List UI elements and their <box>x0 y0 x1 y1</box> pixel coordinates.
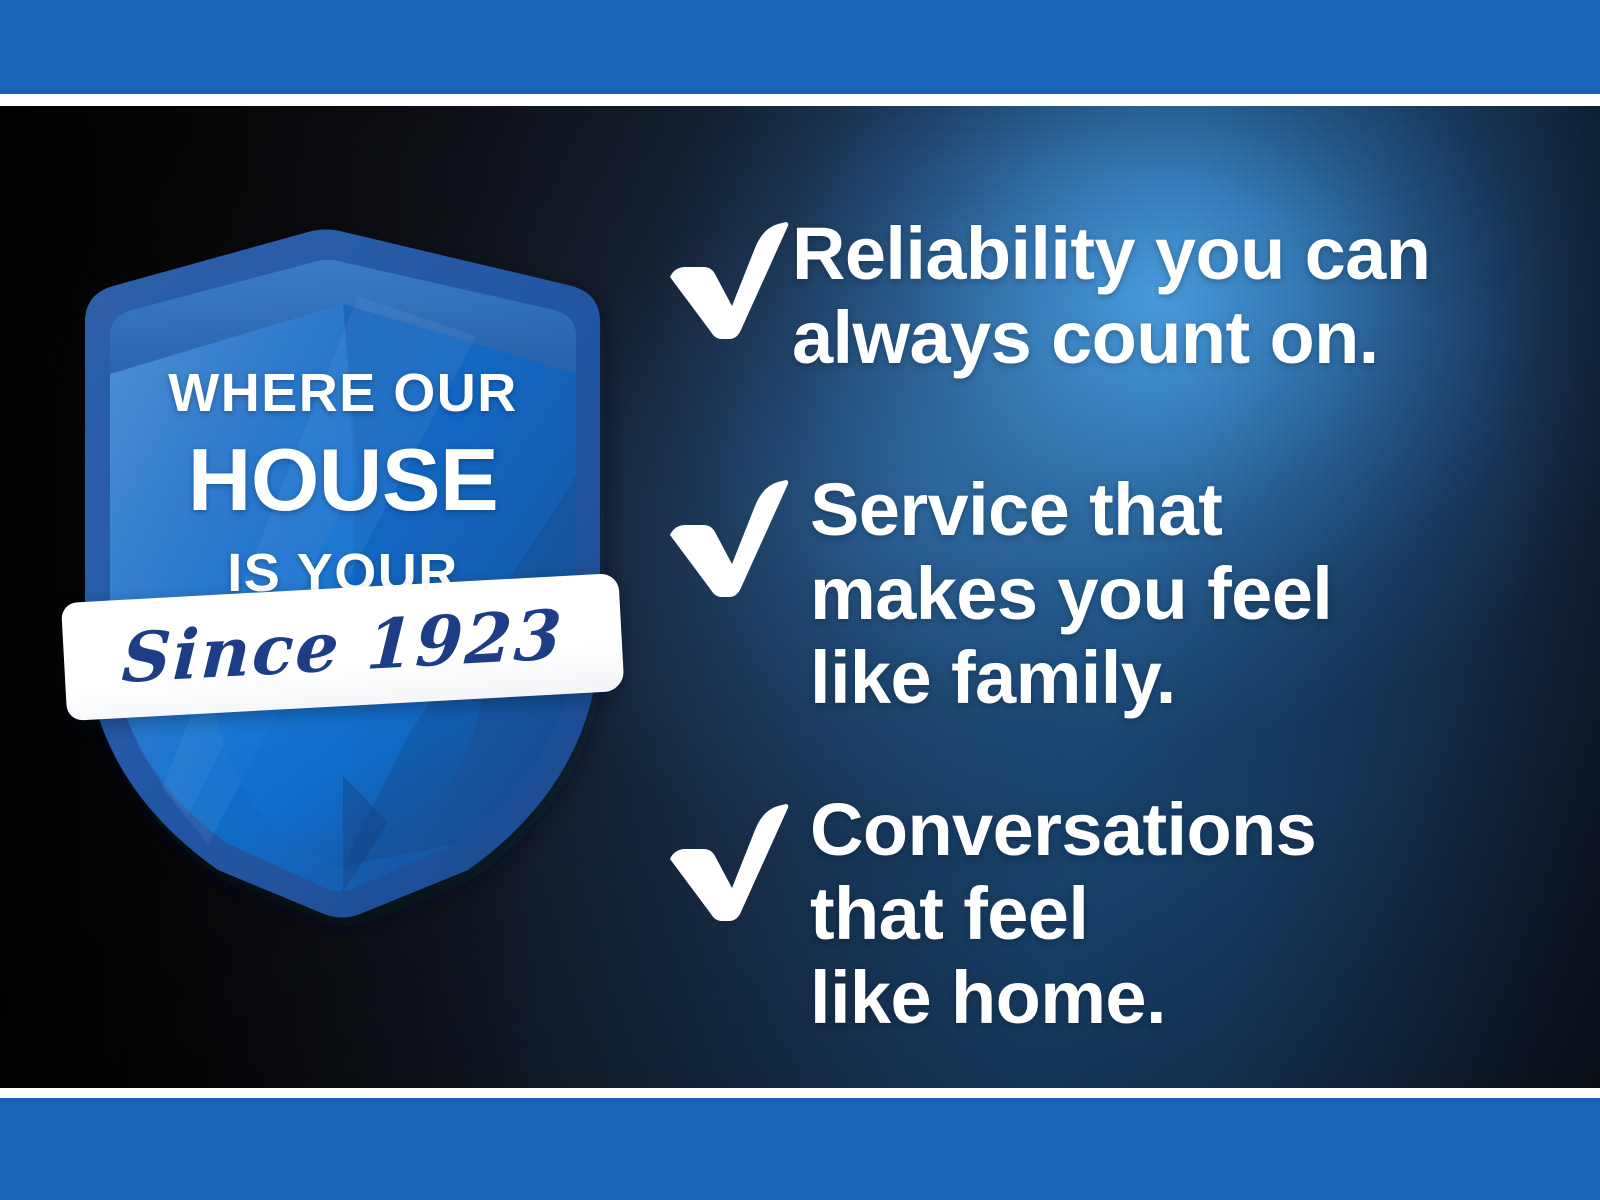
shield-badge: WHERE OUR HOUSE IS YOUR HOUSE Since 1923 <box>58 176 628 936</box>
benefit-item-3: Conversations that feel like home. <box>660 788 1316 1040</box>
top-brand-bar <box>0 0 1600 94</box>
benefit-1-line-1: Reliability you can <box>792 212 1430 296</box>
benefit-1-line-2: always count on. <box>792 296 1430 380</box>
promo-poster: WHERE OUR HOUSE IS YOUR HOUSE Since 1923… <box>0 0 1600 1200</box>
benefit-text-2: Service that makes you feel like family. <box>810 468 1332 720</box>
bottom-brand-bar <box>0 1098 1600 1200</box>
benefit-3-line-2: that feel <box>810 872 1316 956</box>
benefit-2-line-1: Service that <box>810 468 1332 552</box>
benefit-item-1: Reliability you can always count on. <box>660 212 1430 380</box>
benefit-2-line-2: makes you feel <box>810 552 1332 636</box>
benefit-item-2: Service that makes you feel like family. <box>660 468 1332 720</box>
shield-icon <box>58 176 628 936</box>
benefit-2-line-3: like family. <box>810 636 1332 720</box>
benefit-text-3: Conversations that feel like home. <box>810 788 1316 1040</box>
benefit-3-line-3: like home. <box>810 956 1316 1040</box>
checkmark-icon <box>660 802 792 922</box>
checkmark-icon <box>660 220 792 340</box>
benefit-3-line-1: Conversations <box>810 788 1316 872</box>
shield-graphic: WHERE OUR HOUSE IS YOUR HOUSE Since 1923 <box>58 176 628 936</box>
benefit-text-1: Reliability you can always count on. <box>792 212 1430 380</box>
benefits-list: Reliability you can always count on. Ser… <box>660 106 1540 1088</box>
checkmark-icon <box>660 478 792 598</box>
